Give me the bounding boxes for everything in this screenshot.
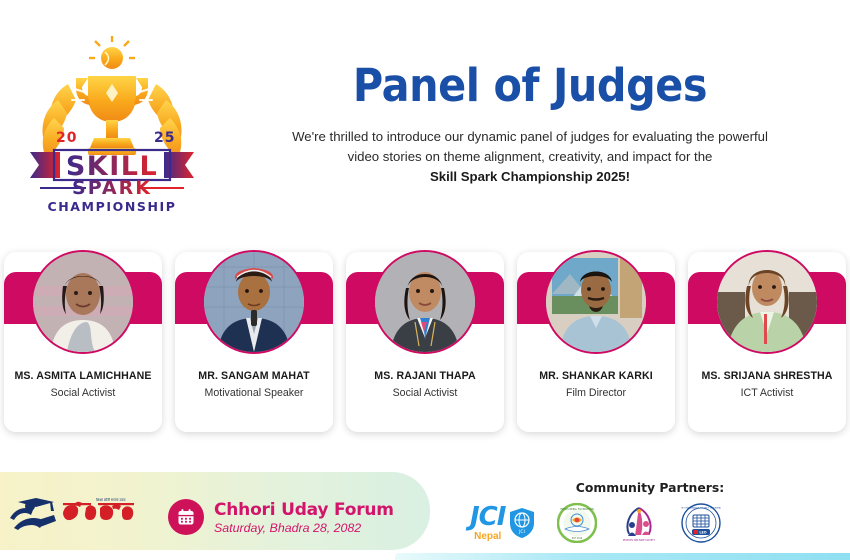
footer-section: शिक्षा छोरी सपना उदय xyxy=(0,460,850,560)
logo-word-spark: SPARK xyxy=(72,177,152,199)
judge-card[interactable]: MS. ASMITA LAMICHHANE Social Activist xyxy=(4,252,162,432)
logo-word-championship: CHAMPIONSHIP xyxy=(47,199,176,212)
judge-info: MS. ASMITA LAMICHHANE Social Activist xyxy=(4,370,162,399)
judge-role: Social Activist xyxy=(8,387,158,399)
judge-role: Motivational Speaker xyxy=(179,387,329,399)
poster-canvas: 20 25 SKILL SPARK CHAMPIONSHIP Panel of … xyxy=(0,0,850,560)
intro-line-1: We're thrilled to introduce our dynamic … xyxy=(292,129,768,144)
judge-name: MS. RAJANI THAPA xyxy=(350,370,500,382)
judge-role: ICT Activist xyxy=(692,387,842,399)
judge-avatar xyxy=(202,250,306,354)
intro-paragraph: We're thrilled to introduce our dynamic … xyxy=(230,127,830,187)
jci-wordmark: JCI xyxy=(470,504,505,530)
partner-caption: PEOPLES WELFARE SOCIETY xyxy=(623,539,656,542)
partner-logo-row: JCI Nepal JCI xyxy=(470,503,850,543)
partner-caption: ECHOS NEPAL FOUNDATION xyxy=(561,508,595,511)
community-partners: Community Partners: JCI Nepal JCI xyxy=(470,480,850,543)
forum-name: Chhori Uday Forum xyxy=(214,500,394,520)
svg-text:EST 2019: EST 2019 xyxy=(572,537,583,540)
calendar-icon xyxy=(168,499,204,535)
jci-shield-icon: JCI xyxy=(509,507,535,539)
forum-text-group: Chhori Uday Forum Saturday, Bhadra 28, 2… xyxy=(214,500,394,535)
forum-date: Saturday, Bhadra 28, 2082 xyxy=(214,521,394,535)
svg-text:LEO: LEO xyxy=(700,531,707,535)
judge-avatar xyxy=(373,250,477,354)
title-block: Panel of Judges We're thrilled to introd… xyxy=(230,62,830,187)
logo-year-right: 25 xyxy=(154,130,175,146)
page-title: Panel of Judges xyxy=(254,62,806,109)
judges-list: MS. ASMITA LAMICHHANE Social Activist xyxy=(0,252,850,437)
logo-year-left: 20 xyxy=(56,130,77,146)
chhori-uday-logo: शिक्षा छोरी सपना उदय xyxy=(8,498,138,532)
judge-info: MR. SHANKAR KARKI Film Director xyxy=(517,370,675,399)
skill-spark-championship-logo: 20 25 SKILL SPARK CHAMPIONSHIP xyxy=(22,32,202,212)
svg-text:JCI: JCI xyxy=(519,529,526,535)
judge-name: MR. SHANKAR KARKI xyxy=(521,370,671,382)
judge-name: MS. SRIJANA SHRESTHA xyxy=(692,370,842,382)
judge-info: MR. SANGAM MAHAT Motivational Speaker xyxy=(175,370,333,399)
partner-logo-echos-nepal-foundation: ECHOS NEPAL FOUNDATION EST 2019 xyxy=(557,503,597,543)
judge-role: Social Activist xyxy=(350,387,500,399)
footer-cyan-strip xyxy=(395,553,850,560)
judge-card[interactable]: MS. RAJANI THAPA Social Activist xyxy=(346,252,504,432)
judge-card[interactable]: MS. SRIJANA SHRESTHA ICT Activist xyxy=(688,252,846,432)
partner-logo-jci: JCI Nepal JCI xyxy=(470,504,535,542)
judge-info: MS. RAJANI THAPA Social Activist xyxy=(346,370,504,399)
org-logo-tagline: शिक्षा छोरी सपना उदय xyxy=(96,498,126,502)
partner-logo-leo-mahanagar-district: LEO LEO MAHANAGAR DISTRICT 325 NEPAL xyxy=(681,503,721,543)
partner-caption: LEO MAHANAGAR DISTRICT 325 NEPAL xyxy=(681,507,721,510)
judge-avatar xyxy=(544,250,648,354)
judge-name: MS. ASMITA LAMICHHANE xyxy=(8,370,158,382)
jci-nepal-label: Nepal xyxy=(470,531,505,542)
judge-card[interactable]: MR. SANGAM MAHAT Motivational Speaker xyxy=(175,252,333,432)
forum-badge: Chhori Uday Forum Saturday, Bhadra 28, 2… xyxy=(168,499,394,535)
partner-logo-peoples-welfare-society: PEOPLES WELFARE SOCIETY xyxy=(619,503,659,543)
community-partners-label: Community Partners: xyxy=(470,480,830,495)
judge-avatar xyxy=(715,250,819,354)
judge-info: MS. SRIJANA SHRESTHA ICT Activist xyxy=(688,370,846,399)
judge-name: MR. SANGAM MAHAT xyxy=(179,370,329,382)
intro-line-2: video stories on theme alignment, creati… xyxy=(348,149,713,164)
judge-card[interactable]: MR. SHANKAR KARKI Film Director xyxy=(517,252,675,432)
header-section: 20 25 SKILL SPARK CHAMPIONSHIP Panel of … xyxy=(0,0,850,235)
judge-role: Film Director xyxy=(521,387,671,399)
judge-avatar xyxy=(31,250,135,354)
intro-emphasis: Skill Spark Championship 2025! xyxy=(430,169,630,184)
